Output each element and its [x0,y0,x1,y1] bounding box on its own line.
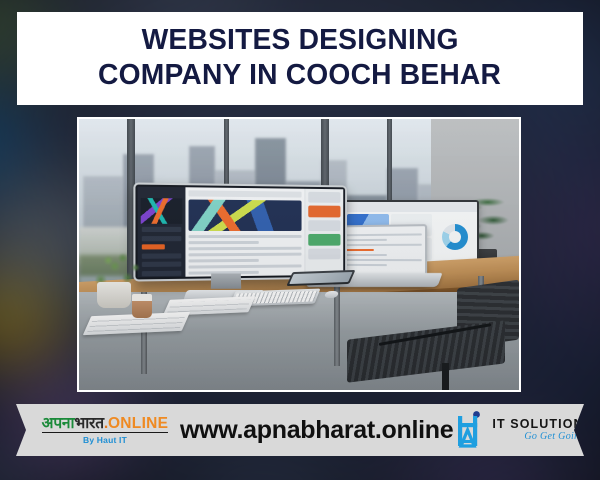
footer-content: अपनाभारत.ONLINE By Haut IT www.apnabhara… [0,404,600,456]
panel-card-success [308,234,341,245]
panel-card [308,220,341,231]
sidebar-artwork [141,198,182,223]
apnabharat-logo-tagline: By Haut IT [30,436,180,445]
coffee-cup [132,294,152,318]
dashboard-donut-chart [442,224,468,250]
monitor-screen [138,187,344,278]
panel-card-accent [308,206,341,217]
ha-it-solutions-logo[interactable]: IT SOLUTIONS Go Get Going... [453,410,593,450]
apnabharat-online: ONLINE [108,415,168,432]
tablet-device [287,270,356,286]
panel-card [308,248,341,259]
app-main-panel [185,187,304,277]
office-chair-post [442,363,449,390]
apnabharat-logo-wordmark: अपनाभारत.ONLINE [42,416,169,434]
laptop-screen-text-lines [345,230,422,269]
apnabharat-hindi-apna: अपना [42,415,75,432]
app-hero-graphic [188,200,301,232]
ha-monogram-icon [453,410,487,450]
poster-canvas: WEBSITES DESIGNING COMPANY IN COOCH BEHA… [0,0,600,480]
hero-photo-frame [77,117,521,392]
apnabharat-hindi-bharat: भारत [74,415,104,432]
dashboard-header [345,202,477,212]
potted-plant-left-pot [97,282,131,308]
app-toolbar [188,190,301,197]
apnabharat-logo[interactable]: अपनाभारत.ONLINE By Haut IT [30,416,180,445]
app-right-panel [304,189,343,276]
app-content-lines [188,235,301,275]
website-url[interactable]: www.apnabharat.online [180,416,453,445]
panel-card [308,192,341,204]
monitor-stand [211,274,241,289]
title-line-1: WEBSITES DESIGNING [141,23,458,58]
title-line-2: COMPANY IN COOCH BEHAR [98,58,501,93]
office-desk-photo [79,119,519,390]
title-banner: WEBSITES DESIGNING COMPANY IN COOCH BEHA… [17,12,583,105]
primary-ultrawide-monitor [134,182,348,281]
footer-bar: अपनाभारत.ONLINE By Haut IT www.apnabhara… [0,404,600,456]
